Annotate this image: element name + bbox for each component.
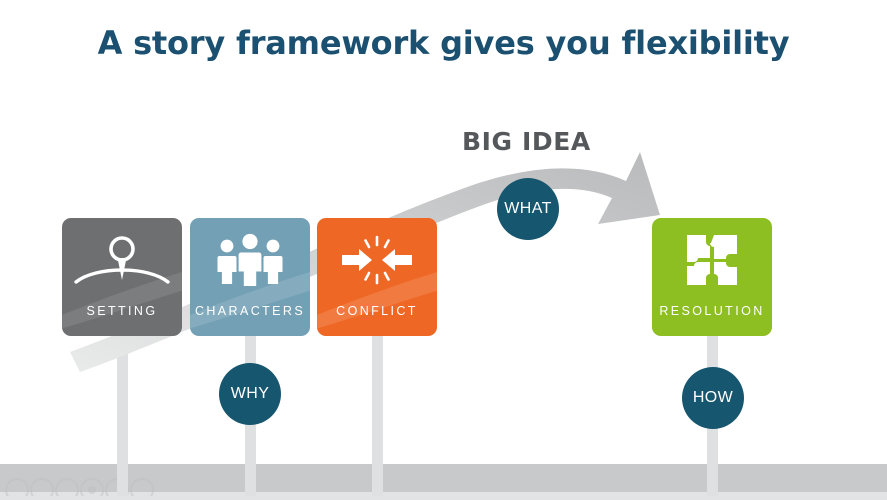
stage-label-resolution: RESOLUTION (652, 304, 772, 318)
marker-what[interactable]: WHAT (497, 178, 559, 240)
stage-box-conflict[interactable]: CONFLICT (317, 218, 437, 336)
post-setting (117, 336, 128, 496)
stage-box-characters[interactable]: CHARACTERS (190, 218, 310, 336)
colliding-arrows-icon (336, 232, 418, 288)
characters-icon-wrap (190, 230, 310, 290)
stage-label-characters: CHARACTERS (190, 304, 310, 318)
big-idea-label: BIG IDEA (462, 127, 591, 156)
resolution-icon-wrap (652, 230, 772, 290)
conflict-icon-wrap (317, 230, 437, 290)
stage-label-conflict: CONFLICT (317, 304, 437, 318)
stage-box-setting[interactable]: SETTING (62, 218, 182, 336)
marker-why[interactable]: WHY (219, 363, 281, 425)
four-piece-puzzle-icon (684, 232, 740, 288)
stage-label-setting: SETTING (62, 304, 182, 318)
marker-label-what: WHAT (504, 200, 552, 218)
marker-label-why: WHY (231, 385, 270, 403)
stage-box-resolution[interactable]: RESOLUTION (652, 218, 772, 336)
setting-icon-wrap (62, 230, 182, 290)
slide-canvas: A story framework gives you flexibility (0, 0, 887, 500)
three-people-icon (213, 233, 287, 287)
marker-how[interactable]: HOW (682, 367, 744, 429)
page-title: A story framework gives you flexibility (0, 24, 887, 62)
watermark-circles-icon (2, 470, 162, 496)
post-conflict (372, 336, 383, 496)
marker-label-how: HOW (693, 389, 733, 407)
location-pin-horizon-icon (74, 232, 170, 288)
